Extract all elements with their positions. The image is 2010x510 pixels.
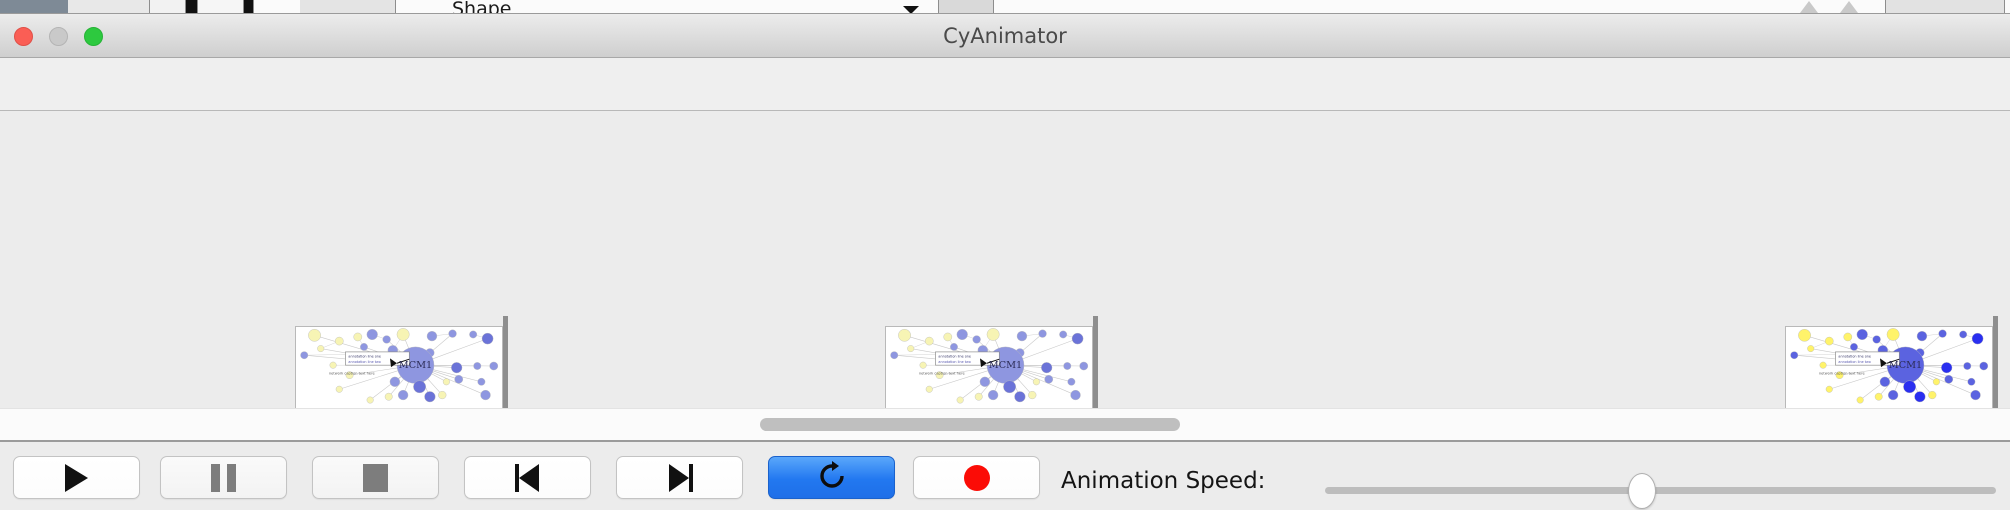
background-divider bbox=[244, 0, 254, 14]
window-titlebar: CyAnimator bbox=[0, 14, 2010, 58]
animation-speed-slider-thumb[interactable] bbox=[1628, 473, 1656, 509]
svg-text:annotation line one: annotation line one bbox=[938, 354, 971, 358]
scrollbar-thumb[interactable] bbox=[760, 418, 1180, 431]
timeline-horizontal-scrollbar[interactable] bbox=[0, 408, 2010, 440]
timeline-panel[interactable]: annotation line oneannotation line twone… bbox=[0, 111, 2010, 408]
maximize-button[interactable] bbox=[84, 27, 103, 46]
background-chevron-icon bbox=[1840, 1, 1858, 13]
svg-text:annotation line two: annotation line two bbox=[938, 360, 970, 364]
playback-control-bar: Animation Speed: bbox=[0, 440, 2010, 510]
svg-text:MCM1: MCM1 bbox=[989, 360, 1022, 371]
skip-backward-icon bbox=[515, 464, 541, 492]
svg-text:MCM1: MCM1 bbox=[1889, 360, 1922, 371]
background-shape-label: Shape bbox=[452, 0, 512, 14]
background-box bbox=[1885, 0, 2005, 14]
frame-time-marker[interactable] bbox=[1093, 316, 1098, 408]
svg-text:annotation line two: annotation line two bbox=[348, 360, 380, 364]
background-tab bbox=[150, 0, 186, 14]
window-title: CyAnimator bbox=[0, 14, 2010, 58]
minimize-button[interactable] bbox=[49, 27, 68, 46]
loop-button[interactable] bbox=[768, 456, 895, 499]
background-tab bbox=[68, 0, 150, 14]
frame-1[interactable]: annotation line oneannotation line twone… bbox=[295, 326, 503, 408]
svg-text:annotation line two: annotation line two bbox=[1838, 360, 1870, 364]
skip-forward-icon bbox=[667, 464, 693, 492]
stop-button[interactable] bbox=[312, 456, 439, 499]
skip-backward-button[interactable] bbox=[464, 456, 591, 499]
animation-speed-slider[interactable] bbox=[1325, 487, 1996, 494]
background-tab bbox=[300, 0, 396, 14]
frame-time-marker[interactable] bbox=[503, 316, 508, 408]
animation-speed-label: Animation Speed: bbox=[1061, 468, 1265, 494]
background-box bbox=[938, 0, 994, 14]
svg-text:annotation line one: annotation line one bbox=[1838, 354, 1871, 358]
pause-icon bbox=[211, 464, 236, 492]
play-button[interactable] bbox=[13, 456, 140, 499]
background-sidebar bbox=[0, 0, 68, 14]
background-divider bbox=[186, 0, 198, 14]
record-icon bbox=[964, 465, 990, 491]
loop-icon bbox=[817, 461, 847, 495]
frame-time-marker[interactable] bbox=[1993, 316, 1998, 408]
toolbar: Clear All Frames bbox=[0, 58, 2010, 111]
svg-text:network caption text here: network caption text here bbox=[1819, 371, 1865, 375]
frame-3[interactable]: annotation line oneannotation line twone… bbox=[1785, 326, 1993, 408]
svg-text:MCM1: MCM1 bbox=[399, 360, 432, 371]
svg-text:network caption text here: network caption text here bbox=[329, 371, 375, 375]
traffic-light-group bbox=[14, 27, 103, 46]
play-icon bbox=[65, 464, 88, 492]
svg-text:network caption text here: network caption text here bbox=[919, 371, 965, 375]
skip-forward-button[interactable] bbox=[616, 456, 743, 499]
close-button[interactable] bbox=[14, 27, 33, 46]
pause-button[interactable] bbox=[160, 456, 287, 499]
record-button[interactable] bbox=[913, 456, 1040, 499]
svg-text:annotation line one: annotation line one bbox=[348, 354, 381, 358]
stop-icon bbox=[363, 464, 388, 492]
background-caret-icon bbox=[903, 6, 919, 14]
background-window-strip: Shape bbox=[0, 0, 2010, 14]
background-chevron-icon bbox=[1800, 1, 1818, 13]
background-tab bbox=[198, 0, 244, 14]
frame-2[interactable]: annotation line oneannotation line twone… bbox=[885, 326, 1093, 408]
